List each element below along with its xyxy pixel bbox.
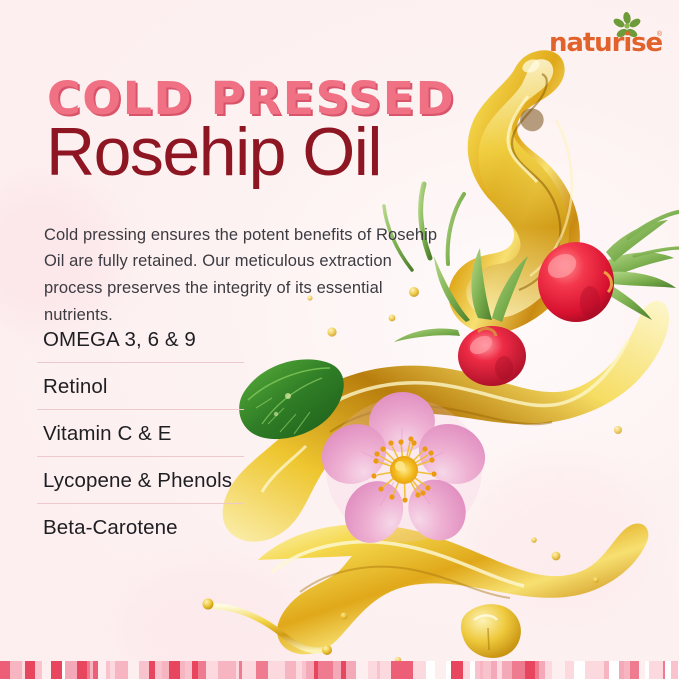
- page-title: Rosehip Oil: [46, 117, 381, 188]
- stripe-segment: [435, 661, 446, 679]
- stripe-segment: [285, 661, 296, 679]
- list-divider: [37, 503, 244, 504]
- stripe-segment: [42, 661, 51, 679]
- stripe-segment: [256, 661, 268, 679]
- stripe-segment: [451, 661, 463, 679]
- stripe-segment: [10, 661, 22, 679]
- stripe-segment: [268, 661, 276, 679]
- stripe-segment: [368, 661, 377, 679]
- list-item: OMEGA 3, 6 & 9: [37, 326, 244, 353]
- ingredient-label: Vitamin C & E: [37, 420, 244, 447]
- ingredient-label: OMEGA 3, 6 & 9: [37, 326, 244, 353]
- stripe-segment: [597, 661, 604, 679]
- list-divider: [37, 409, 244, 410]
- stripe-segment: [25, 661, 35, 679]
- stripe-segment: [65, 661, 77, 679]
- stripe-segment: [483, 661, 491, 679]
- stripe-segment: [139, 661, 149, 679]
- stripe-segment: [525, 661, 535, 679]
- stripe-segment: [115, 661, 128, 679]
- stripe-segment: [463, 661, 470, 679]
- stripe-segment: [512, 661, 525, 679]
- stripe-segment: [98, 661, 106, 679]
- brand-logo[interactable]: naturise ®: [549, 14, 661, 58]
- stripe-segment: [242, 661, 254, 679]
- stripe-segment: [585, 661, 597, 679]
- stripe-segment: [356, 661, 368, 679]
- stripe-segment: [276, 661, 285, 679]
- stripe-segment: [155, 661, 162, 679]
- stripe-segment: [630, 661, 639, 679]
- stripe-segment: [609, 661, 619, 679]
- stripe-segment: [51, 661, 62, 679]
- stripe-segment: [656, 661, 663, 679]
- stripe-segment: [502, 661, 512, 679]
- stripe-segment: [552, 661, 565, 679]
- ingredient-list: OMEGA 3, 6 & 9 Retinol Vitamin C & E Lyc…: [37, 326, 244, 541]
- stripe-segment: [162, 661, 169, 679]
- stripe-segment: [77, 661, 87, 679]
- stripe-segment: [391, 661, 401, 679]
- stripe-segment: [198, 661, 206, 679]
- stripe-segment: [228, 661, 236, 679]
- trademark-symbol: ®: [657, 31, 662, 38]
- green-leaf: [239, 359, 344, 439]
- rosehip-berry: [538, 220, 676, 322]
- brand-name: naturise: [549, 30, 662, 56]
- list-item: Retinol: [37, 373, 244, 400]
- list-divider: [37, 362, 244, 363]
- stripe-segment: [206, 661, 218, 679]
- stripe-segment: [401, 661, 413, 679]
- intro-paragraph: Cold pressing ensures the potent benefit…: [44, 222, 442, 329]
- stripe-segment: [380, 661, 391, 679]
- stripe-segment: [318, 661, 329, 679]
- list-divider: [37, 456, 244, 457]
- stripe-segment: [649, 661, 656, 679]
- ingredient-label: Lycopene & Phenols: [37, 467, 244, 494]
- stripe-segment: [426, 661, 435, 679]
- stripe-segment: [169, 661, 180, 679]
- stripe-segment: [128, 661, 139, 679]
- stripe-segment: [671, 661, 678, 679]
- list-item: Beta-Carotene: [37, 514, 244, 541]
- stripe-segment: [218, 661, 228, 679]
- stripe-segment: [333, 661, 341, 679]
- stripe-segment: [35, 661, 42, 679]
- stripe-segment: [306, 661, 314, 679]
- stripe-segment: [0, 661, 10, 679]
- ingredient-label: Beta-Carotene: [37, 514, 244, 541]
- ingredient-label: Retinol: [37, 373, 244, 400]
- decorative-stripe-band: [0, 661, 679, 679]
- stripe-segment: [574, 661, 585, 679]
- list-item: Vitamin C & E: [37, 420, 244, 447]
- stripe-segment: [413, 661, 426, 679]
- background-blob: [470, 460, 650, 620]
- stripe-segment: [346, 661, 356, 679]
- stripe-segment: [545, 661, 552, 679]
- oil-splash-upper: [448, 50, 579, 333]
- list-item: Lycopene & Phenols: [37, 467, 244, 494]
- stripe-segment: [185, 661, 192, 679]
- pink-rose-flower: [311, 389, 495, 554]
- infographic-canvas: naturise ® COLD PRESSED Rosehip Oil Cold…: [0, 0, 679, 679]
